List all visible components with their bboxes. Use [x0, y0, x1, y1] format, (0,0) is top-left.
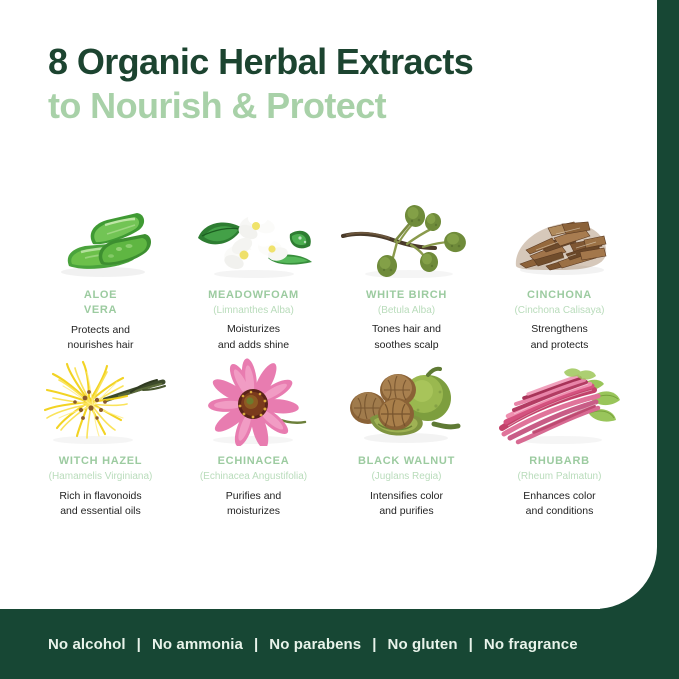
extract-card-rhubarb: RHUBARB (Rheum Palmatun) Enhances color … [483, 354, 636, 520]
extracts-grid: ALOE VERA Protects and nourishes hair [24, 188, 636, 520]
extract-desc-line-1: Intensifies color [370, 490, 443, 502]
footer-claims-bar: No alcohol | No ammonia | No parabens | … [0, 609, 679, 679]
extract-latin-name: (Hamamelis Virginiana) [28, 470, 173, 484]
claim-no-parabens: No parabens [269, 636, 361, 653]
extract-latin-name: (Betula Alba) [334, 304, 479, 318]
claim-no-ammonia: No ammonia [152, 636, 243, 653]
claim-no-alcohol: No alcohol [48, 636, 126, 653]
herbal-extracts-infographic: 8 Organic Herbal Extracts to Nourish & P… [0, 0, 679, 679]
echinacea-flower-icon [181, 354, 326, 446]
extract-desc-line-1: Purifies and [226, 490, 281, 502]
extract-name: ALOE VERA [28, 288, 173, 318]
extract-card-black-walnut: BLACK WALNUT (Juglans Regia) Intensifies… [330, 354, 483, 520]
claim-no-gluten: No gluten [388, 636, 458, 653]
extract-desc-line-2: moisturizes [227, 505, 280, 517]
aloe-vera-icon [28, 188, 173, 280]
white-birch-branch-icon [334, 188, 479, 280]
extract-desc-line-1: Strengthens [531, 323, 588, 335]
claim-separator: | [126, 636, 152, 653]
footer-claims-list: No alcohol | No ammonia | No parabens | … [48, 636, 578, 653]
extract-name: ECHINACEA [181, 454, 326, 469]
rhubarb-stalks-icon [487, 354, 632, 446]
claim-separator: | [243, 636, 269, 653]
witch-hazel-flower-icon [28, 354, 173, 446]
extract-description: Protects and nourishes hair [28, 323, 173, 355]
extract-desc-line-2: nourishes hair [68, 339, 134, 351]
extract-desc-line-1: Protects and [71, 324, 130, 336]
extract-desc-line-2: soothes scalp [374, 339, 438, 351]
extract-card-aloe-vera: ALOE VERA Protects and nourishes hair [24, 188, 177, 354]
extract-name: BLACK WALNUT [334, 454, 479, 469]
extract-desc-line-2: and adds shine [218, 339, 289, 351]
extract-description: Purifies and moisturizes [181, 489, 326, 521]
extract-card-echinacea: ECHINACEA (Echinacea Angustifolia) Purif… [177, 354, 330, 520]
title-line-2: to Nourish & Protect [48, 86, 473, 126]
extract-desc-line-2: and purifies [379, 505, 433, 517]
extract-desc-line-2: and protects [531, 339, 589, 351]
page-title: 8 Organic Herbal Extracts to Nourish & P… [48, 42, 473, 127]
extract-description: Strengthens and protects [487, 322, 632, 354]
extract-desc-line-2: and essential oils [60, 505, 141, 517]
extract-latin-name: (Echinacea Angustifolia) [181, 470, 326, 484]
black-walnut-icon [334, 354, 479, 446]
extract-description: Intensifies color and purifies [334, 489, 479, 521]
extract-name-line-1: ALOE [84, 289, 117, 301]
extract-name: MEADOWFOAM [181, 288, 326, 303]
extract-latin-name: (Rheum Palmatun) [487, 470, 632, 484]
extract-card-cinchona: CINCHONA (Cinchona Calisaya) Strengthens… [483, 188, 636, 354]
extract-name: WITCH HAZEL [28, 454, 173, 469]
extract-description: Moisturizes and adds shine [181, 322, 326, 354]
meadowfoam-flower-icon [181, 188, 326, 280]
extract-card-witch-hazel: WITCH HAZEL (Hamamelis Virginiana) Rich … [24, 354, 177, 520]
extract-card-white-birch: WHITE BIRCH (Betula Alba) Tones hair and… [330, 188, 483, 354]
cinchona-bark-icon [487, 188, 632, 280]
extract-latin-name: (Juglans Regia) [334, 470, 479, 484]
extract-name: RHUBARB [487, 454, 632, 469]
claim-separator: | [361, 636, 387, 653]
extract-name: CINCHONA [487, 288, 632, 303]
extract-desc-line-1: Rich in flavonoids [59, 490, 141, 502]
extract-desc-line-1: Enhances color [523, 490, 595, 502]
extract-name: WHITE BIRCH [334, 288, 479, 303]
claim-separator: | [458, 636, 484, 653]
extract-description: Enhances color and conditions [487, 489, 632, 521]
extract-desc-line-1: Tones hair and [372, 323, 441, 335]
extract-description: Tones hair and soothes scalp [334, 322, 479, 354]
extract-name-line-2: VERA [84, 304, 117, 316]
extract-latin-name: (Limnanthes Alba) [181, 304, 326, 318]
claim-no-fragrance: No fragrance [484, 636, 578, 653]
extract-desc-line-1: Moisturizes [227, 323, 280, 335]
extract-card-meadowfoam: MEADOWFOAM (Limnanthes Alba) Moisturizes… [177, 188, 330, 354]
title-line-1: 8 Organic Herbal Extracts [48, 42, 473, 82]
extract-latin-name: (Cinchona Calisaya) [487, 304, 632, 318]
extract-description: Rich in flavonoids and essential oils [28, 489, 173, 521]
extract-desc-line-2: and conditions [526, 505, 594, 517]
